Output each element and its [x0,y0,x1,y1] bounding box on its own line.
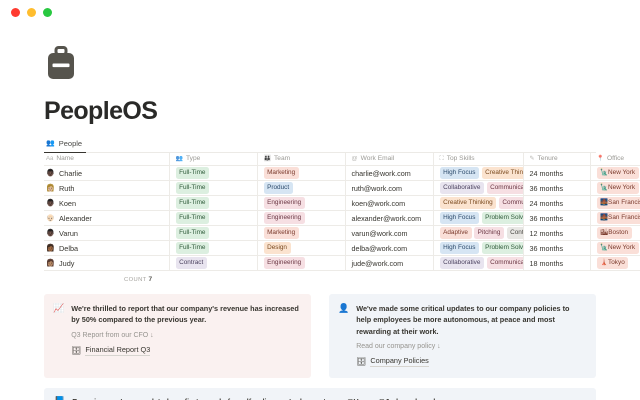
team-tag: Product [264,182,293,194]
team-tag: Engineering [264,212,305,224]
skill-tag: Adaptive [440,227,472,239]
card-text: Ever since we've completed our first rou… [72,396,586,400]
column-label: Type [186,155,200,162]
cell-type[interactable]: Full-Time [169,211,257,226]
cell-type[interactable]: Full-Time [169,181,257,196]
column-header-team[interactable]: 👪Team [257,153,345,166]
app-window: PeopleOS 👥 People AaName 👥Type 👪Team @Wo… [0,0,640,400]
avatar: 👨🏿 [46,200,54,207]
skill-tag: Collaborative [440,257,485,269]
column-label: Tenure [538,155,558,162]
backpack-icon[interactable] [44,46,78,82]
type-tag: Full-Time [176,212,210,224]
tab-label: People [59,139,82,148]
cell-type[interactable]: Full-Time [169,166,257,181]
column-label: Work Email [361,155,395,162]
team-tag: Engineering [264,197,305,209]
office-tag: 🗽New York [597,167,639,179]
count-label: COUNT [124,277,147,283]
team-tag: Engineering [264,257,305,269]
type-tag: Full-Time [176,182,210,194]
cell-top-skills[interactable]: CollaborativeCommunication [433,256,523,271]
cell-team[interactable]: Engineering [257,211,345,226]
person-name: Judy [59,259,74,268]
office-tag: 🏙Boston [597,227,632,239]
card-subtext: Q3 Report from our CFO ↓ [71,332,301,339]
column-label: Office [607,155,624,162]
window-maximize-button[interactable] [43,8,52,17]
cell-type[interactable]: Contract [169,256,257,271]
person-name: Alexander [59,214,92,223]
document-icon: 🗄 [71,346,81,355]
cell-tenure[interactable]: 24 months [523,166,590,181]
revenue-callout-card[interactable]: 📈 We're thrilled to report that our comp… [44,294,311,378]
email-type-icon: @ [352,156,358,162]
column-header-top-skills[interactable]: ⛶Top Skills [433,153,523,166]
cell-team[interactable]: Product [257,181,345,196]
cell-work-email[interactable]: alexander@work.com [345,211,433,226]
cell-type[interactable]: Full-Time [169,241,257,256]
skill-tag: Communication [487,257,524,269]
avatar: 👩🏾 [46,245,54,252]
cell-name[interactable]: 👨🏿Charlie [44,166,169,181]
location-pin-icon: 📍 [597,156,604,162]
page-title: PeopleOS [44,98,596,126]
cell-work-email[interactable]: delba@work.com [345,241,433,256]
cell-name[interactable]: 👩🏽Judy [44,256,169,271]
table-row[interactable]: 👨🏿KoenFull-TimeEngineeringkoen@work.comC… [44,196,640,211]
select-type-icon: 👥 [176,156,183,162]
ledger-icon: 📘 [54,396,65,400]
avatar: 👨🏿 [46,170,54,177]
skills-type-icon: ⛶ [440,156,444,162]
skill-tag: Pitching [474,227,504,239]
type-tag: Full-Time [176,242,210,254]
cell-team[interactable]: Marketing [257,166,345,181]
people-icon: 👥 [46,140,55,147]
multiselect-type-icon: 👪 [264,156,271,162]
cell-work-email[interactable]: ruth@work.com [345,181,433,196]
team-tag: Design [264,242,291,254]
table-row[interactable]: 👩🏾DelbaFull-TimeDesigndelba@work.comHigh… [44,241,640,256]
table-row[interactable]: 👨🏿VarunFull-TimeMarketingvarun@work.comA… [44,226,640,241]
view-tabs: 👥 People [44,137,596,153]
cell-tenure[interactable]: 24 months [523,196,590,211]
person-name: Varun [59,229,78,238]
window-close-button[interactable] [11,8,20,17]
avatar: 👴🏻 [46,215,54,222]
table-header-row: AaName 👥Type 👪Team @Work Email ⛶Top Skil… [44,153,640,166]
office-tag: 🌉San Francisco [597,212,640,224]
link-label: Company Policies [370,356,428,367]
cell-top-skills[interactable]: High FocusCreative Thinking [433,166,523,181]
cell-office[interactable]: 🏙Boston [590,226,640,241]
cell-work-email[interactable]: charlie@work.com [345,166,433,181]
window-titlebar [0,0,640,24]
cell-name[interactable]: 👩🏼Ruth [44,181,169,196]
cell-tenure[interactable]: 12 months [523,226,590,241]
count-value: 7 [149,276,153,283]
window-minimize-button[interactable] [27,8,36,17]
cell-work-email[interactable]: varun@work.com [345,226,433,241]
cell-name[interactable]: 👨🏿Varun [44,226,169,241]
people-table: AaName 👥Type 👪Team @Work Email ⛶Top Skil… [44,153,640,272]
cell-office[interactable]: 🗽New York [590,166,640,181]
type-tag: Full-Time [176,167,210,179]
cell-tenure[interactable]: 36 months [523,241,590,256]
skill-tag: High Focus [440,242,480,254]
chart-increasing-icon: 📈 [53,303,64,367]
seedfunding-callout-card[interactable]: 📘 Ever since we've completed our first r… [44,388,596,400]
card-body: Ever since we've completed our first rou… [72,396,586,400]
card-subtext: Read our company policy ↓ [356,343,586,350]
cell-office[interactable]: 🗼Tokyo [590,256,640,271]
cell-name[interactable]: 👩🏾Delba [44,241,169,256]
card-body: We're thrilled to report that our compan… [71,303,301,367]
column-label: Top Skills [447,155,475,162]
skill-tag: High Focus [440,212,480,224]
column-header-name[interactable]: AaName [44,153,169,166]
avatar: 👩🏼 [46,185,54,192]
type-tag: Full-Time [176,227,210,239]
skill-tag: Communication [487,182,524,194]
company-policies-link[interactable]: 🗄 Company Policies [356,356,586,367]
team-tag: Marketing [264,227,299,239]
office-tag: 🗽New York [597,242,639,254]
cell-team[interactable]: Marketing [257,226,345,241]
policy-callout-card[interactable]: 👤 We've made some critical updates to ou… [329,294,596,378]
financial-report-link[interactable]: 🗄 Financial Report Q3 [71,345,301,356]
link-label: Financial Report Q3 [85,345,150,356]
column-header-type[interactable]: 👥Type [169,153,257,166]
type-tag: Contract [176,257,207,269]
table-row[interactable]: 👴🏻AlexanderFull-TimeEngineeringalexander… [44,211,640,226]
column-label: Team [274,155,290,162]
cell-office[interactable]: 🌉San Francisco [590,211,640,226]
skill-tag: Problem Solving [482,242,523,254]
bust-in-silhouette-icon: 👤 [338,303,349,367]
document-icon: 🗄 [356,357,366,366]
page-content: PeopleOS 👥 People AaName 👥Type 👪Team @Wo… [0,46,640,400]
cell-top-skills[interactable]: AdaptivePitchingControl [433,226,523,241]
cell-team[interactable]: Design [257,241,345,256]
table-row[interactable]: 👩🏽JudyContractEngineeringjude@work.comCo… [44,256,640,271]
team-tag: Marketing [264,167,299,179]
column-label: Name [56,155,74,162]
text-type-icon: Aa [46,156,53,162]
cell-office[interactable]: 🌉San Francisco [590,196,640,211]
cell-name[interactable]: 👨🏿Koen [44,196,169,211]
table-count-footer: COUNT 7 [44,271,596,283]
cell-top-skills[interactable]: High FocusProblem Solving [433,211,523,226]
cell-tenure[interactable]: 18 months [523,256,590,271]
card-body: We've made some critical updates to our … [356,303,586,367]
cell-office[interactable]: 🗽New York [590,241,640,256]
card-text: We're thrilled to report that our compan… [71,303,301,326]
office-tag: 🗽New York [597,182,639,194]
table-row[interactable]: 👩🏼RuthFull-TimeProductruth@work.comColla… [44,181,640,196]
type-tag: Full-Time [176,197,210,209]
column-header-office[interactable]: 📍Office [590,153,640,166]
skill-tag: Communication [499,197,523,209]
cell-work-email[interactable]: jude@work.com [345,256,433,271]
cell-top-skills[interactable]: CollaborativeCommunication [433,181,523,196]
table-row[interactable]: 👨🏿CharlieFull-TimeMarketingcharlie@work.… [44,166,640,181]
column-header-work-email[interactable]: @Work Email [345,153,433,166]
office-tag: 🌉San Francisco [597,197,640,209]
cell-work-email[interactable]: koen@work.com [345,196,433,211]
formula-type-icon: ✎ [530,156,535,162]
person-name: Ruth [59,184,74,193]
skill-tag: Problem Solving [482,212,523,224]
skill-tag: High Focus [440,167,480,179]
person-name: Charlie [59,169,82,178]
person-name: Delba [59,244,78,253]
skill-tag: Creative Thinking [482,167,523,179]
cell-tenure[interactable]: 36 months [523,211,590,226]
person-name: Koen [59,199,76,208]
callout-cards: 📈 We're thrilled to report that our comp… [44,294,596,378]
cell-office[interactable]: 🗽New York [590,181,640,196]
column-header-tenure[interactable]: ✎Tenure [523,153,590,166]
cell-top-skills[interactable]: Creative ThinkingCommunication [433,196,523,211]
skill-tag: Control [507,227,524,239]
table-body: 👨🏿CharlieFull-TimeMarketingcharlie@work.… [44,166,640,271]
cell-team[interactable]: Engineering [257,196,345,211]
cell-type[interactable]: Full-Time [169,226,257,241]
card-text: We've made some critical updates to our … [356,303,586,337]
cell-top-skills[interactable]: High FocusProblem Solving [433,241,523,256]
cell-team[interactable]: Engineering [257,256,345,271]
avatar: 👨🏿 [46,230,54,237]
office-tag: 🗼Tokyo [597,257,629,269]
cell-name[interactable]: 👴🏻Alexander [44,211,169,226]
avatar: 👩🏽 [46,260,54,267]
skill-tag: Collaborative [440,182,485,194]
cell-tenure[interactable]: 36 months [523,181,590,196]
cell-type[interactable]: Full-Time [169,196,257,211]
skill-tag: Creative Thinking [440,197,497,209]
tab-people[interactable]: 👥 People [44,137,86,153]
